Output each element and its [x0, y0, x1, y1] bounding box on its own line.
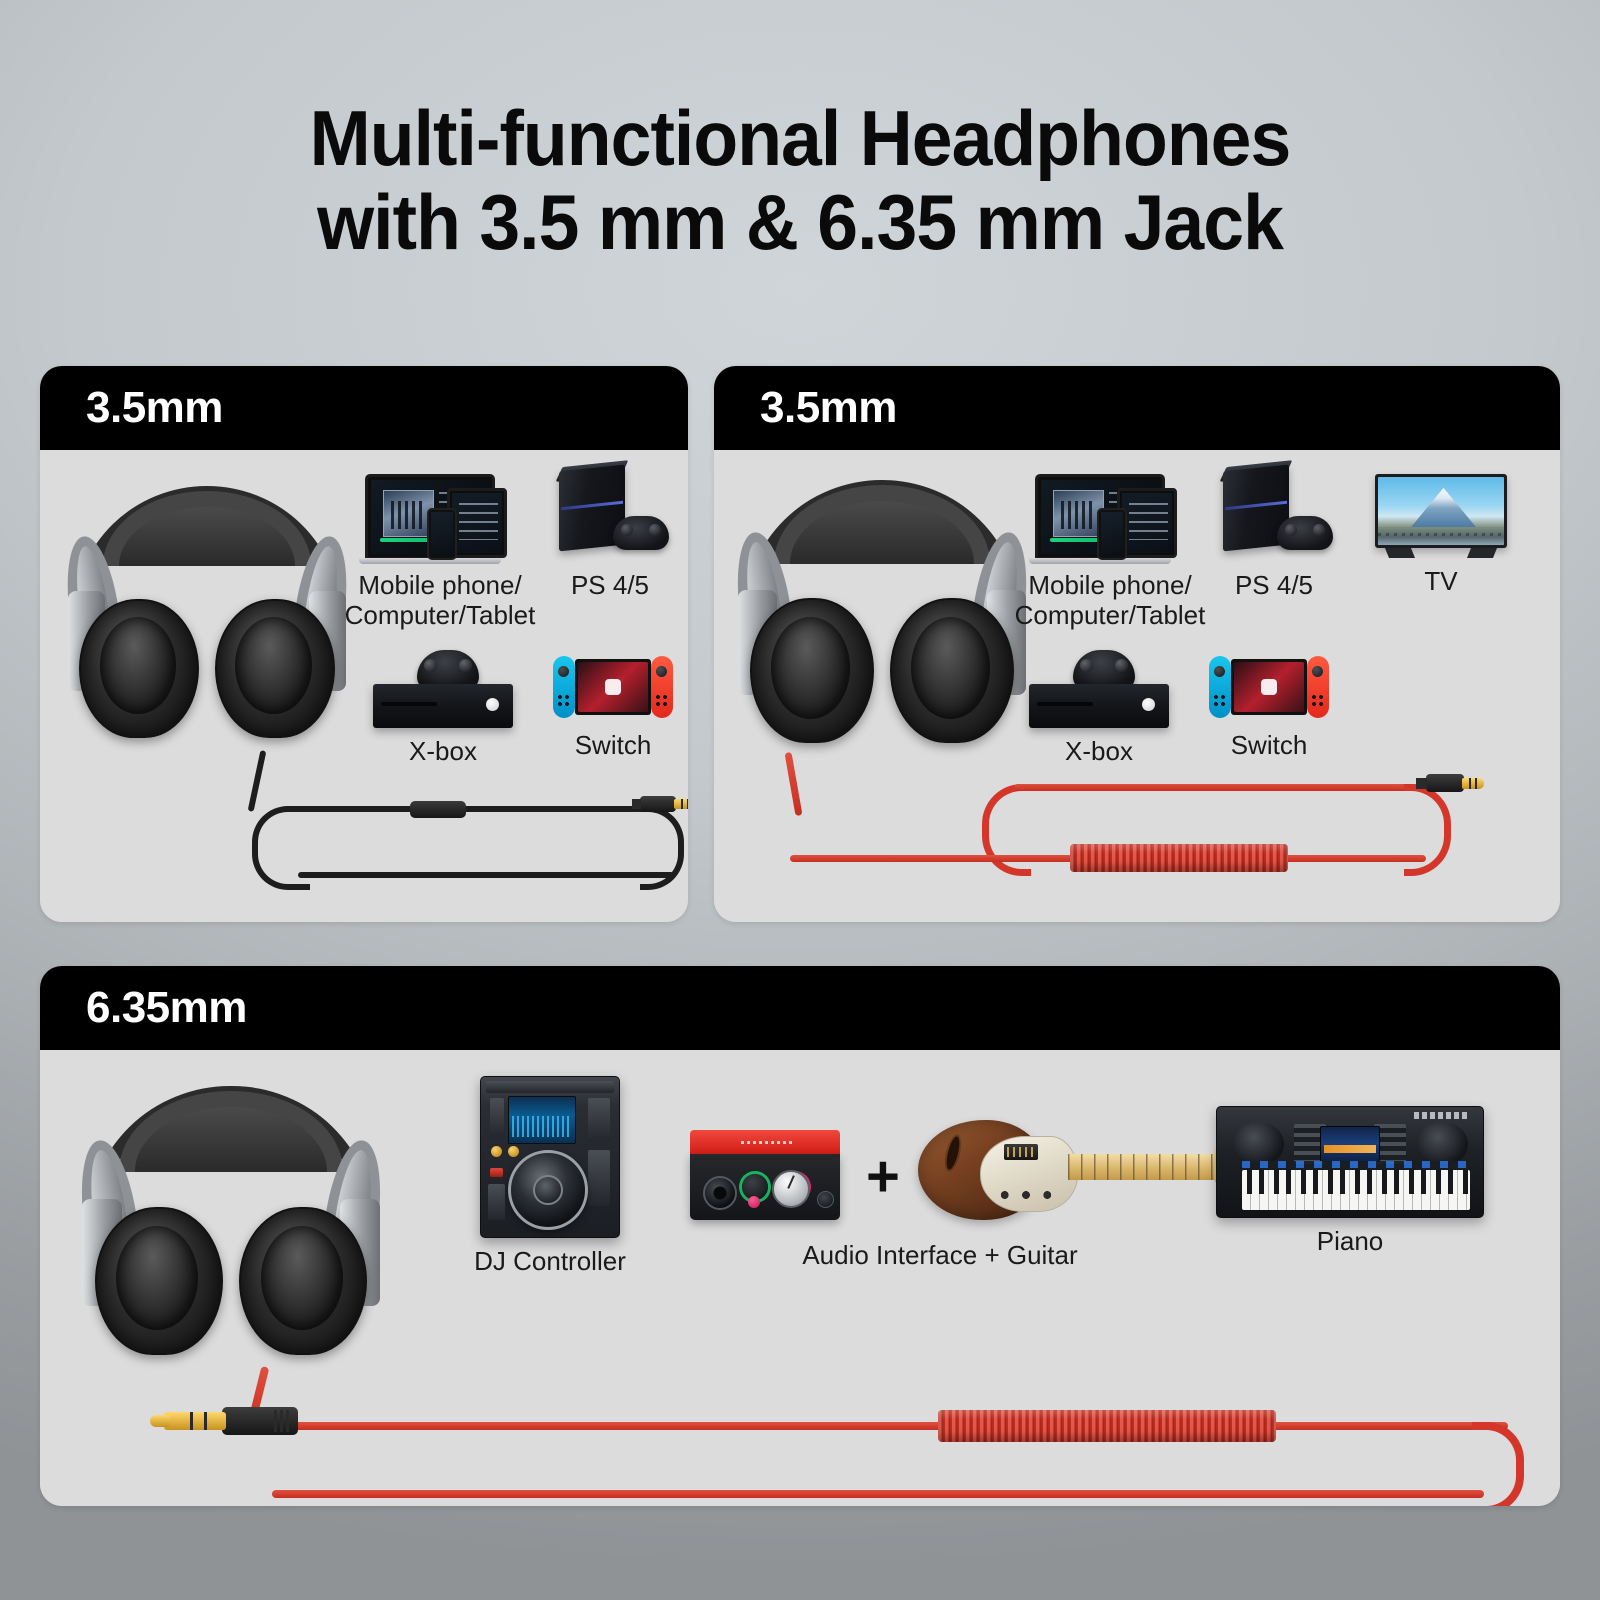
panel-6p35mm: 6.35mm	[40, 966, 1560, 1506]
cable-uturn-left	[982, 784, 1031, 876]
panel-3p5mm-right: 3.5mm Mobile phone/ Comput	[714, 366, 1560, 922]
panel-header-bar: 3.5mm	[714, 366, 1560, 450]
cable-coil-section	[938, 1410, 1276, 1442]
panel-badge-3p5mm-right: 3.5mm	[760, 383, 897, 433]
panel-badge-3p5mm-left: 3.5mm	[86, 383, 223, 433]
plug-3p5mm-gold	[1398, 772, 1486, 794]
panel-badge-6p35mm: 6.35mm	[86, 983, 247, 1033]
panel-body: Mobile phone/ Computer/Tablet PS 4/5 TV	[714, 450, 1560, 922]
cable-3p5mm-red-coiled	[714, 450, 1560, 922]
plug-6p35mm-gold	[146, 1404, 306, 1438]
cable-uturn-right	[1404, 784, 1451, 876]
infographic-canvas: Multi-functional Headphones with 3.5 mm …	[0, 0, 1600, 1600]
inline-remote-mic	[410, 801, 466, 818]
cable-segment-from-earcup	[784, 752, 802, 816]
cable-coil-section	[1070, 844, 1288, 872]
cable-3p5mm-black	[40, 450, 688, 922]
cable-segment-from-earcup	[248, 750, 267, 812]
plug-3p5mm-gold	[612, 794, 688, 814]
panel-body: DJ Controller	[40, 1050, 1560, 1506]
cable-segment-upper	[272, 1422, 1508, 1430]
panel-3p5mm-left: 3.5mm	[40, 366, 688, 922]
panel-header-bar: 6.35mm	[40, 966, 1560, 1050]
page-title: Multi-functional Headphones with 3.5 mm …	[48, 96, 1552, 264]
cable-uturn-right	[640, 806, 684, 890]
cable-segment-upper	[1014, 784, 1430, 791]
cable-segment-lower	[298, 872, 674, 878]
title-line-2: with 3.5 mm & 6.35 mm Jack	[48, 180, 1552, 264]
cable-6p35mm-red-coiled	[40, 1050, 1560, 1506]
panel-header-bar: 3.5mm	[40, 366, 688, 450]
panel-body: Mobile phone/ Computer/Tablet PS 4/5 X-b…	[40, 450, 688, 922]
cable-segment-lower	[272, 1490, 1484, 1498]
title-line-1: Multi-functional Headphones	[310, 94, 1291, 182]
